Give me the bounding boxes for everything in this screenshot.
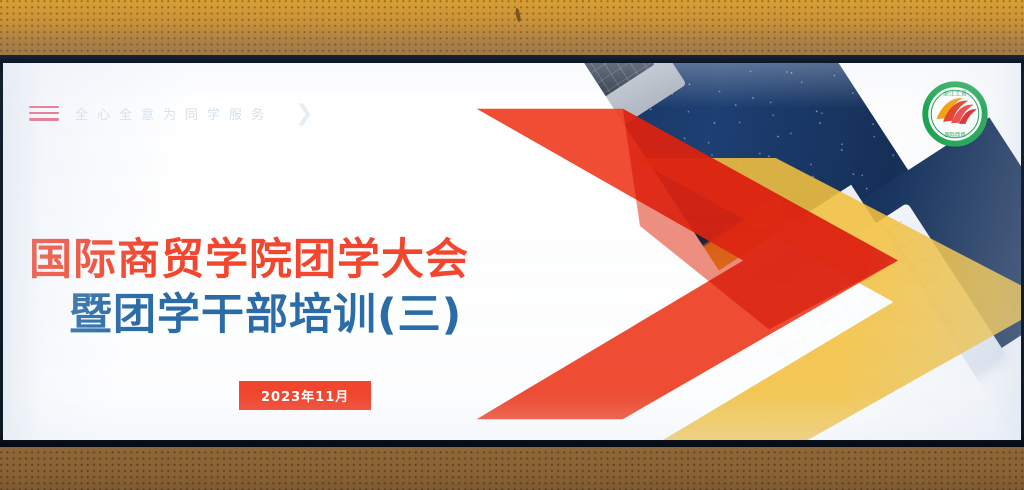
title-line-secondary: 暨团学干部培训(三) — [3, 291, 623, 339]
screenshot-stage: 全心全意为同学服务 ❯ 国际商贸学院团学大会 暨团学干部培训(三) 2023年1… — [0, 0, 1024, 490]
hamburger-icon — [29, 106, 59, 121]
date-badge: 2023年11月 — [239, 381, 371, 410]
title-line-primary: 国际商贸学院团学大会 — [3, 238, 623, 283]
presentation-slide: 全心全意为同学服务 ❯ 国际商贸学院团学大会 暨团学干部培训(三) 2023年1… — [3, 63, 1021, 440]
slide-title-block: 国际商贸学院团学大会 暨团学干部培训(三) — [3, 238, 623, 339]
school-emblem-logo: 浙江工贸 国际商贸 — [922, 81, 988, 147]
lower-acoustic-panel — [0, 445, 1024, 490]
slide-slogan: 全心全意为同学服务 — [75, 104, 273, 123]
panel-perforations-bottom — [0, 445, 1024, 490]
panel-perforations-top — [0, 0, 1024, 62]
chevron-right-icon: ❯ — [295, 102, 313, 124]
svg-text:浙江工贸: 浙江工贸 — [943, 90, 967, 98]
slide-header-bar: 全心全意为同学服务 ❯ — [3, 93, 473, 133]
ceiling-acoustic-panel — [0, 0, 1024, 62]
